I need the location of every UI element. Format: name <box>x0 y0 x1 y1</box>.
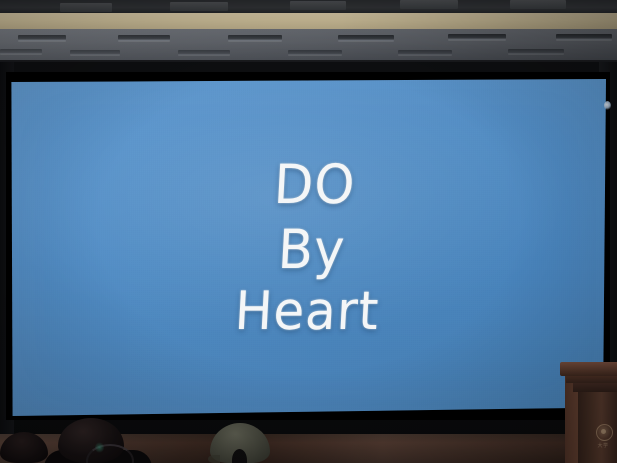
projection-screen: DO By Heart <box>9 79 606 416</box>
ceiling-top-band <box>0 0 617 14</box>
lecture-hall-photo: DO By Heart 大学 <box>0 0 617 463</box>
podium-plaque-text: 大学 <box>589 442 617 449</box>
slide-line-do: DO <box>272 158 356 212</box>
slide-line-heart: Heart <box>234 284 381 337</box>
podium-top-surface <box>560 362 617 376</box>
screen-sheen <box>9 79 606 416</box>
slide-line-by: By <box>276 223 346 277</box>
slide-content: DO By Heart <box>9 79 606 416</box>
light-reflection-speck <box>604 101 611 110</box>
university-crest-icon <box>596 424 613 441</box>
screen-grain-texture <box>9 79 606 416</box>
ceiling-acoustic-panel <box>0 29 617 63</box>
cap-brim <box>208 455 220 463</box>
podium-bevel <box>573 383 617 392</box>
podium-lip <box>566 376 617 383</box>
head-glint-highlight <box>95 442 104 453</box>
ceiling-beige-band <box>0 13 617 30</box>
